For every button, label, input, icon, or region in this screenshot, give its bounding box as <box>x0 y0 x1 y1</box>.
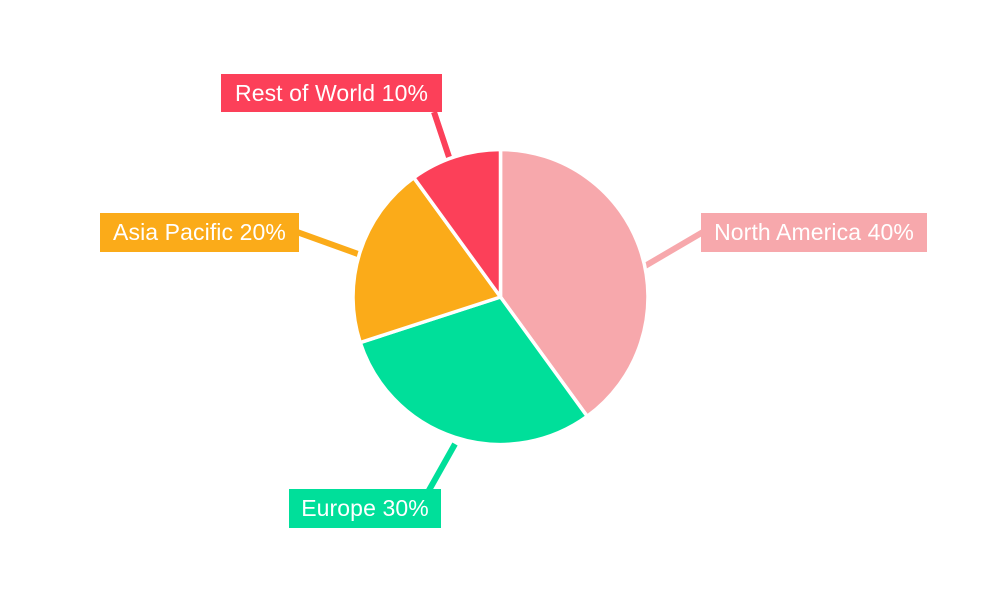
pie-slices <box>353 150 648 445</box>
pie-chart-canvas <box>0 0 1000 600</box>
pie-label-north-america: North America 40% <box>701 213 927 252</box>
pie-label-europe-text: Europe 30% <box>301 497 429 520</box>
pie-label-rest-of-world-text: Rest of World 10% <box>235 82 428 105</box>
pie-label-europe: Europe 30% <box>289 489 441 528</box>
leader-line-europe <box>428 444 455 492</box>
pie-label-north-america-text: North America 40% <box>714 221 914 244</box>
pie-label-rest-of-world: Rest of World 10% <box>221 74 442 112</box>
pie-chart: North America 40% Europe 30% Asia Pacifi… <box>0 0 1000 600</box>
leader-line-asia-pacific <box>297 232 358 254</box>
leader-line-north-america <box>645 232 703 266</box>
pie-label-asia-pacific: Asia Pacific 20% <box>100 213 299 252</box>
pie-label-asia-pacific-text: Asia Pacific 20% <box>113 221 286 244</box>
